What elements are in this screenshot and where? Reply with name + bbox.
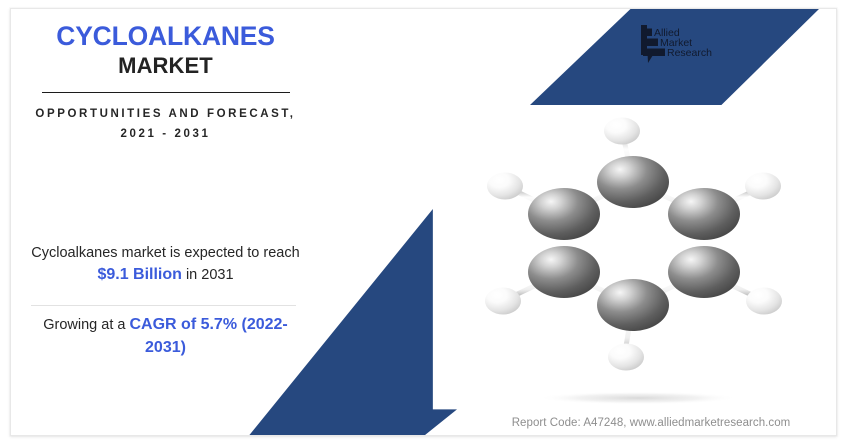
logo-line-3: Research bbox=[667, 47, 712, 59]
hydrogen-atom bbox=[487, 173, 523, 200]
stat-2-value: CAGR of 5.7% (2022-2031) bbox=[129, 316, 287, 356]
carbon-atom bbox=[597, 279, 669, 331]
hydrogen-atom bbox=[608, 344, 644, 371]
molecule-ground-shadow bbox=[538, 392, 738, 405]
stat-divider bbox=[31, 305, 296, 306]
stat-1-suffix: in 2031 bbox=[182, 267, 234, 283]
hydrogen-atom bbox=[485, 288, 521, 315]
stat-cagr: Growing at a CAGR of 5.7% (2022-2031) bbox=[23, 314, 308, 359]
carbon-atom bbox=[528, 188, 600, 240]
cycloalkane-molecule-illustration bbox=[473, 107, 803, 417]
stat-1-prefix: Cycloalkanes market is expected to reach bbox=[31, 245, 299, 261]
allied-market-research-logo[interactable]: Allied Market Research bbox=[639, 25, 719, 71]
carbon-atom bbox=[528, 246, 600, 298]
carbon-atom bbox=[597, 156, 669, 208]
carbon-atom bbox=[668, 188, 740, 240]
hydrogen-atom bbox=[745, 173, 781, 200]
stat-2-prefix: Growing at a bbox=[43, 317, 129, 333]
tagline: OPPORTUNITIES AND FORECAST, 2021 - 2031 bbox=[23, 105, 308, 145]
title-block: CYCLOALKANES MARKET OPPORTUNITIES AND FO… bbox=[23, 15, 308, 145]
hydrogen-atom bbox=[746, 288, 782, 315]
page-title: CYCLOALKANES bbox=[23, 21, 308, 52]
carbon-atom bbox=[668, 246, 740, 298]
carbon-atoms bbox=[528, 156, 740, 331]
hydrogen-atoms bbox=[485, 118, 782, 371]
page-subtitle: MARKET bbox=[23, 53, 308, 79]
stat-1-value: $9.1 Billion bbox=[97, 266, 181, 283]
title-divider bbox=[42, 92, 290, 93]
hydrogen-atom bbox=[604, 118, 640, 145]
stat-market-value: Cycloalkanes market is expected to reach… bbox=[23, 243, 308, 286]
report-code-footer: Report Code: A47248, www.alliedmarketres… bbox=[471, 417, 831, 429]
infographic-card: Allied Market Research CYCLOALKANES MARK… bbox=[10, 8, 837, 436]
